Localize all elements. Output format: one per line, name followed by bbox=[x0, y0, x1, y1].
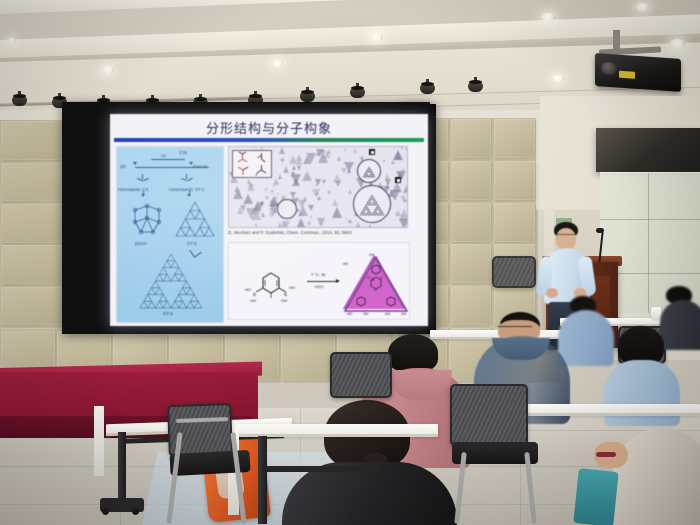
stm-triangle bbox=[234, 186, 240, 192]
svg-text:O: O bbox=[374, 288, 377, 292]
stm-triangle bbox=[332, 199, 338, 206]
slide-left-panel: C3v 120 2D Fractal Homotactic C3 Heterot… bbox=[116, 146, 224, 323]
slide-title: 分形结构与分子构象 bbox=[110, 118, 428, 137]
svg-text:HO: HO bbox=[347, 312, 353, 315]
downlight bbox=[272, 60, 283, 67]
desk-crossbar bbox=[262, 466, 382, 472]
ceiling-projector bbox=[595, 52, 681, 90]
acoustic-panel bbox=[451, 203, 492, 242]
molecule-homotactic bbox=[135, 173, 151, 185]
svg-text:OH: OH bbox=[281, 298, 287, 303]
chair-front-center bbox=[450, 384, 528, 446]
reaction-condition-bottom: H2O bbox=[315, 284, 323, 289]
stm-triangle bbox=[303, 196, 307, 201]
stm-triangle bbox=[317, 218, 325, 227]
slide-reaction-scheme: B B OH OH HO OH T °C, 3h H2O bbox=[228, 242, 410, 320]
stm-callout-small bbox=[357, 159, 381, 183]
label-angle: 120 bbox=[161, 154, 166, 158]
stm-triangle bbox=[316, 149, 324, 157]
stm-triangle bbox=[247, 182, 255, 191]
stm-triangle bbox=[261, 212, 265, 217]
acoustic-panel bbox=[1, 121, 67, 160]
stm-triangle bbox=[302, 171, 312, 181]
stm-triangle bbox=[273, 185, 275, 188]
svg-text:OH: OH bbox=[250, 298, 256, 303]
slide-citation: D. Nieckarz and P. Szabelski, Chem. Comm… bbox=[228, 230, 351, 235]
downlight bbox=[636, 3, 649, 11]
projector-label bbox=[619, 71, 635, 79]
stm-triangle bbox=[399, 219, 408, 228]
wrist-band bbox=[596, 452, 616, 457]
stm-triangle bbox=[405, 148, 407, 151]
projected-slide: 分形结构与分子构象 C3v 120 2D Fractal Homota bbox=[110, 114, 428, 326]
stm-triangle bbox=[297, 218, 305, 227]
label-fractal: Fractal bbox=[193, 164, 207, 169]
stm-triangle bbox=[393, 150, 403, 160]
acoustic-panel bbox=[1, 287, 67, 326]
stm-scale-marker bbox=[395, 177, 401, 183]
stm-triangle bbox=[368, 224, 372, 228]
downlight bbox=[552, 75, 564, 82]
stm-triangle bbox=[322, 180, 326, 184]
presenter-glasses bbox=[557, 234, 575, 238]
stm-triangle bbox=[303, 156, 311, 164]
stm-triangle bbox=[279, 147, 285, 154]
acoustic-panel bbox=[494, 119, 535, 158]
stm-triangle bbox=[270, 190, 274, 195]
downlight bbox=[8, 38, 15, 43]
stm-triangle bbox=[274, 195, 278, 199]
acoustic-panel bbox=[451, 244, 492, 283]
stm-triangle bbox=[348, 189, 352, 194]
acoustic-panel bbox=[1, 163, 67, 202]
stm-triangle bbox=[383, 160, 385, 163]
stm-triangle bbox=[324, 151, 330, 158]
downlight bbox=[102, 66, 114, 74]
stm-triangle bbox=[290, 192, 296, 198]
stm-triangle bbox=[264, 188, 268, 193]
stm-callout-tiny bbox=[277, 199, 297, 219]
stm-triangle bbox=[335, 181, 341, 187]
lecture-hall-photo: 分形结构与分子构象 C3v 120 2D Fractal Homota bbox=[0, 0, 700, 525]
label-c3v: C3v bbox=[179, 150, 187, 155]
acoustic-panel bbox=[451, 119, 492, 158]
stm-triangle bbox=[344, 162, 354, 172]
stm-triangle bbox=[385, 174, 389, 179]
stm-triangle bbox=[312, 189, 320, 198]
attendee-glasses bbox=[498, 326, 532, 331]
stm-triangle bbox=[260, 200, 264, 205]
stm-triangle bbox=[401, 196, 405, 201]
svg-text:B: B bbox=[253, 292, 256, 297]
teal-bag bbox=[573, 468, 619, 525]
stm-triangle bbox=[243, 194, 253, 204]
svg-text:B: B bbox=[284, 292, 287, 297]
molecule-heterotactic bbox=[179, 173, 195, 185]
network-p31m bbox=[125, 202, 169, 238]
stm-triangle bbox=[280, 159, 284, 163]
svg-text:HO: HO bbox=[245, 287, 251, 292]
reaction-condition-top: T °C, 3h bbox=[311, 272, 326, 277]
stm-triangle bbox=[255, 223, 257, 226]
svg-text:OH: OH bbox=[401, 312, 407, 315]
stm-triangle bbox=[237, 207, 243, 214]
slide-stm-panel bbox=[228, 146, 408, 228]
stm-callout-large bbox=[353, 185, 391, 223]
chair-back-far bbox=[492, 256, 536, 288]
desk-caster bbox=[100, 498, 144, 512]
downlight bbox=[670, 39, 685, 48]
label-heterotactic: Heterotactic ST-1 bbox=[169, 187, 205, 192]
presenter-head bbox=[556, 228, 576, 250]
label-st3: ST-3 bbox=[163, 311, 173, 316]
projector-lens bbox=[601, 61, 617, 75]
stm-triangle bbox=[246, 208, 256, 219]
acoustic-panel bbox=[494, 161, 535, 200]
stm-triangle bbox=[310, 215, 312, 218]
stm-triangle bbox=[354, 222, 362, 228]
stm-triangle bbox=[289, 155, 297, 164]
stm-triangle bbox=[315, 179, 321, 186]
acoustic-panel bbox=[1, 245, 67, 284]
svg-text:B: B bbox=[372, 277, 375, 282]
acoustic-panel bbox=[451, 161, 492, 200]
stm-triangle bbox=[399, 209, 408, 220]
acoustic-panel bbox=[494, 203, 535, 242]
reactant-structure: B B OH OH HO OH bbox=[245, 267, 301, 308]
stm-triangle bbox=[348, 219, 352, 223]
label-homotactic: Homotactic C3 bbox=[118, 187, 148, 192]
slide-title-rule bbox=[114, 138, 424, 142]
stm-triangle bbox=[297, 166, 301, 171]
stm-triangle bbox=[391, 160, 395, 164]
stm-triangle bbox=[283, 166, 289, 173]
downlight bbox=[541, 13, 555, 21]
svg-text:HO: HO bbox=[385, 312, 391, 315]
desk-side-panel bbox=[94, 406, 104, 476]
label-p31m: p31m bbox=[135, 241, 147, 246]
conformer-icon-grid bbox=[232, 150, 272, 178]
svg-text:OH: OH bbox=[369, 253, 375, 257]
chair-back-left bbox=[330, 352, 392, 398]
stm-scale-marker bbox=[369, 149, 375, 155]
stm-triangle bbox=[403, 183, 408, 193]
stm-triangle bbox=[296, 209, 300, 213]
stm-triangle bbox=[353, 148, 357, 153]
svg-text:OH: OH bbox=[289, 285, 295, 290]
wall-speaker bbox=[596, 128, 700, 172]
label-2d: 2D bbox=[120, 164, 126, 169]
stm-triangle bbox=[292, 165, 296, 170]
stm-triangle bbox=[308, 205, 314, 211]
stm-triangle bbox=[277, 222, 283, 228]
stm-triangle bbox=[332, 207, 342, 218]
acoustic-panel bbox=[281, 331, 335, 381]
svg-text:O: O bbox=[380, 276, 383, 280]
desk-leg bbox=[258, 436, 267, 524]
stm-triangle bbox=[337, 156, 341, 161]
stm-triangle bbox=[292, 178, 300, 186]
acoustic-panel bbox=[1, 204, 67, 243]
stm-triangle bbox=[265, 195, 269, 199]
stm-triangle bbox=[402, 168, 404, 171]
svg-text:O: O bbox=[367, 276, 370, 280]
downlight bbox=[370, 33, 383, 41]
fractal-st3 bbox=[139, 253, 203, 309]
stm-triangle bbox=[307, 222, 311, 226]
stm-triangle bbox=[327, 191, 331, 195]
stm-triangle bbox=[333, 174, 341, 182]
attendee-black-jacket-ponytail bbox=[272, 400, 462, 525]
stm-triangle bbox=[344, 148, 346, 151]
svg-text:HO: HO bbox=[343, 262, 349, 266]
svg-text:OH: OH bbox=[363, 312, 369, 315]
stm-triangle bbox=[278, 174, 282, 179]
fractal-st2 bbox=[175, 201, 215, 237]
